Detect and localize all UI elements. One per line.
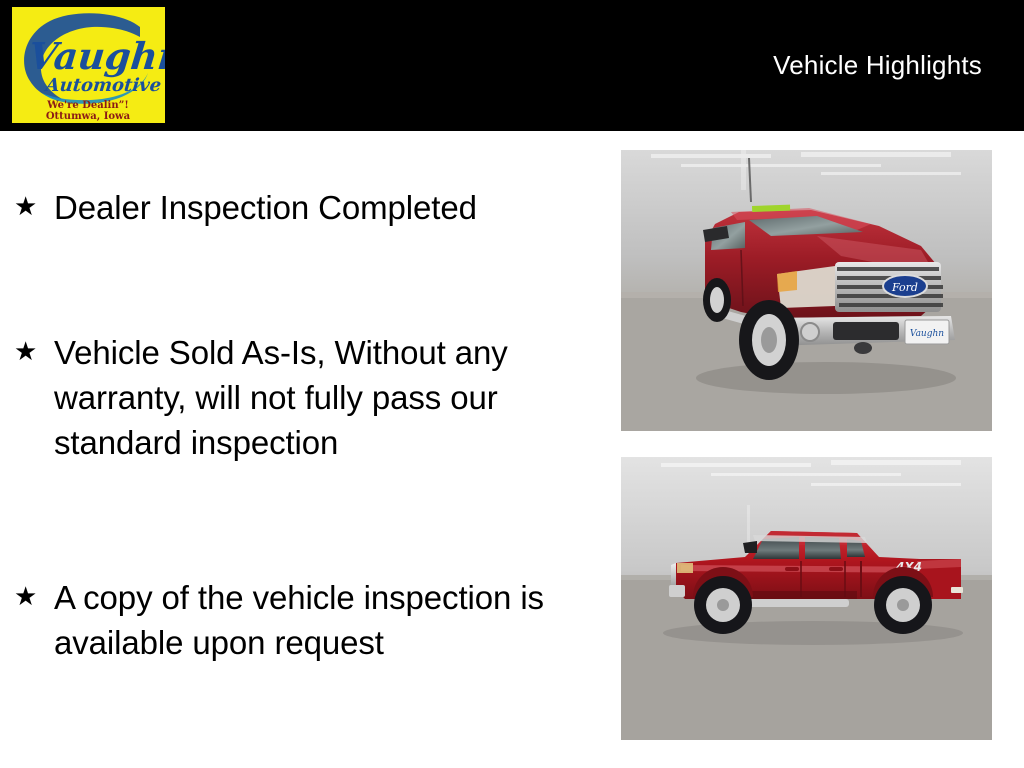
- svg-text:We're Dealin”!: We're Dealin”!: [46, 100, 128, 111]
- list-item-label: Vehicle Sold As-Is, Without any warranty…: [54, 330, 594, 465]
- vehicle-photo-side-profile: 4X4: [621, 457, 992, 740]
- svg-text:Ford: Ford: [891, 281, 918, 294]
- vehicle-highlights-list: ★ Dealer Inspection Completed ★ Vehicle …: [0, 131, 610, 768]
- truck-front-three-quarter-image: Ford Vaughn: [621, 150, 992, 431]
- svg-text:Vaughn: Vaughn: [27, 34, 165, 78]
- star-bullet-icon: ★: [14, 575, 54, 619]
- star-bullet-icon: ★: [14, 330, 54, 374]
- svg-text:Ottumwa, Iowa: Ottumwa, Iowa: [46, 111, 131, 122]
- star-bullet-icon: ★: [14, 185, 54, 229]
- truck-side-profile-image: 4X4: [621, 457, 992, 740]
- list-item-label: A copy of the vehicle inspection is avai…: [54, 575, 594, 665]
- list-item: ★ Dealer Inspection Completed: [14, 185, 594, 230]
- vehicle-photo-front-three-quarter: Ford Vaughn: [621, 150, 992, 431]
- list-item: ★ Vehicle Sold As-Is, Without any warran…: [14, 330, 594, 465]
- list-item: ★ A copy of the vehicle inspection is av…: [14, 575, 594, 665]
- svg-text:Vaughn: Vaughn: [910, 329, 944, 339]
- svg-text:Automotive: Automotive: [43, 75, 163, 96]
- list-item-label: Dealer Inspection Completed: [54, 185, 594, 230]
- page-title: Vehicle Highlights: [773, 50, 982, 81]
- vaughn-automotive-logo-icon: Vaughn Automotive We're Dealin”! Ottumwa…: [12, 7, 165, 123]
- dealer-logo: Vaughn Automotive We're Dealin”! Ottumwa…: [12, 7, 165, 123]
- header-bar: Vaughn Automotive We're Dealin”! Ottumwa…: [0, 0, 1024, 131]
